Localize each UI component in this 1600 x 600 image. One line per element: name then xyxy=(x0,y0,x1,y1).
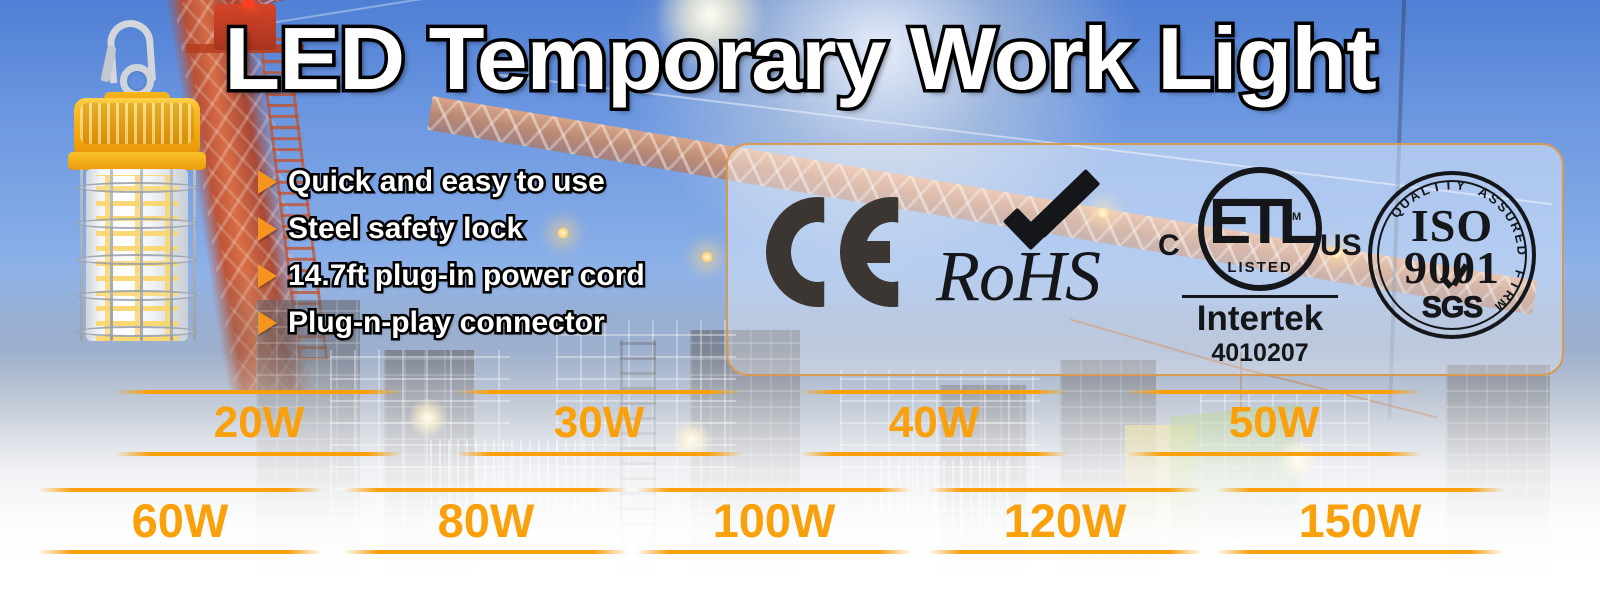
wattage-cell[interactable]: 100W xyxy=(636,488,912,554)
wattage-bottom-rule xyxy=(344,550,628,554)
triangle-bullet-icon xyxy=(258,264,277,288)
certification-panel: RoHS ETL CM LISTED C US Intertek 4010207… xyxy=(726,143,1564,376)
wattage-cell[interactable]: 20W xyxy=(115,390,403,456)
etl-canada-mark: C xyxy=(1158,229,1180,263)
ce-mark-icon xyxy=(766,197,916,307)
wattage-cell[interactable]: 30W xyxy=(455,390,743,456)
cage-ring xyxy=(76,326,198,337)
wattage-cell[interactable]: 50W xyxy=(1126,390,1422,456)
feature-label: Quick and easy to use xyxy=(288,165,605,199)
triangle-bullet-icon xyxy=(258,311,277,335)
triangle-bullet-icon xyxy=(258,170,277,194)
list-item: Quick and easy to use xyxy=(258,158,645,205)
wattage-bottom-rule xyxy=(636,550,912,554)
wattage-cell[interactable]: 40W xyxy=(800,390,1068,456)
wattage-label: 20W xyxy=(115,394,403,452)
ce-letter-e-bar xyxy=(850,241,890,263)
wattage-cell[interactable]: 150W xyxy=(1216,488,1504,554)
wattage-bottom-rule xyxy=(115,452,403,456)
iso-9001-seal-icon: QUALITYASSUREDFIRM ISO 9001 SGS xyxy=(1368,171,1536,339)
list-item: Steel safety lock xyxy=(258,205,645,252)
iso-arc-char: T xyxy=(1444,177,1454,192)
wattage-label: 30W xyxy=(455,394,743,452)
wattage-cell[interactable]: 120W xyxy=(928,488,1202,554)
wattage-cell[interactable]: 80W xyxy=(344,488,628,554)
cage-ring xyxy=(76,254,198,265)
cap-collar xyxy=(68,152,206,170)
rohs-mark-icon: RoHS xyxy=(936,199,1136,319)
wattage-cell[interactable]: 60W xyxy=(38,488,322,554)
wattage-bottom-rule xyxy=(1216,550,1504,554)
wattage-label: 100W xyxy=(636,492,912,550)
etl-file-number: 4010207 xyxy=(1172,339,1348,368)
triangle-bullet-icon xyxy=(258,217,277,241)
wattage-bottom-rule xyxy=(800,452,1068,456)
etl-trademark: CM xyxy=(1284,211,1301,223)
wattage-label: 40W xyxy=(800,394,1068,452)
cage-bar xyxy=(80,169,83,341)
cage-ring xyxy=(76,182,198,193)
etl-letters: ETL xyxy=(1198,189,1322,253)
iso-arc-char: Y xyxy=(1455,178,1467,194)
etl-us-mark: US xyxy=(1320,229,1362,263)
wattage-label: 50W xyxy=(1126,394,1422,452)
list-item: Plug-n-play connector xyxy=(258,299,645,346)
rohs-label: RoHS xyxy=(936,235,1100,318)
etl-listed-mark-icon: ETL CM LISTED C US Intertek 4010207 xyxy=(1158,167,1358,359)
feature-label: Plug-n-play connector xyxy=(288,306,605,340)
page-title: LED Temporary Work Light xyxy=(0,8,1600,110)
wattage-label: 150W xyxy=(1216,492,1504,550)
divider xyxy=(1182,295,1338,298)
feature-label: 14.7ft plug-in power cord xyxy=(288,259,645,293)
cage-ring xyxy=(76,218,198,229)
wattage-bottom-rule xyxy=(1126,452,1422,456)
iso-arc-char: I xyxy=(1433,179,1441,195)
wattage-label: 60W xyxy=(38,492,322,550)
list-item: 14.7ft plug-in power cord xyxy=(258,252,645,299)
wattage-label: 80W xyxy=(344,492,628,550)
bottom-white-fade xyxy=(0,350,1600,600)
sgs-label: SGS xyxy=(1368,291,1536,325)
wattage-bottom-rule xyxy=(455,452,743,456)
intertek-label: Intertek xyxy=(1172,299,1348,339)
feature-label: Steel safety lock xyxy=(288,212,523,246)
cage-ring xyxy=(76,290,198,301)
checkmark-icon xyxy=(1440,271,1468,293)
wattage-label: 120W xyxy=(928,492,1202,550)
cage-bar xyxy=(193,169,196,341)
wattage-bottom-rule xyxy=(928,550,1202,554)
led-work-light-banner: LED Temporary Work Light Quick and easy … xyxy=(0,0,1600,600)
feature-list: Quick and easy to use Steel safety lock … xyxy=(258,158,645,346)
wattage-bottom-rule xyxy=(38,550,322,554)
etl-listed-label: LISTED xyxy=(1198,259,1322,276)
jib-lamp-icon xyxy=(700,250,714,264)
